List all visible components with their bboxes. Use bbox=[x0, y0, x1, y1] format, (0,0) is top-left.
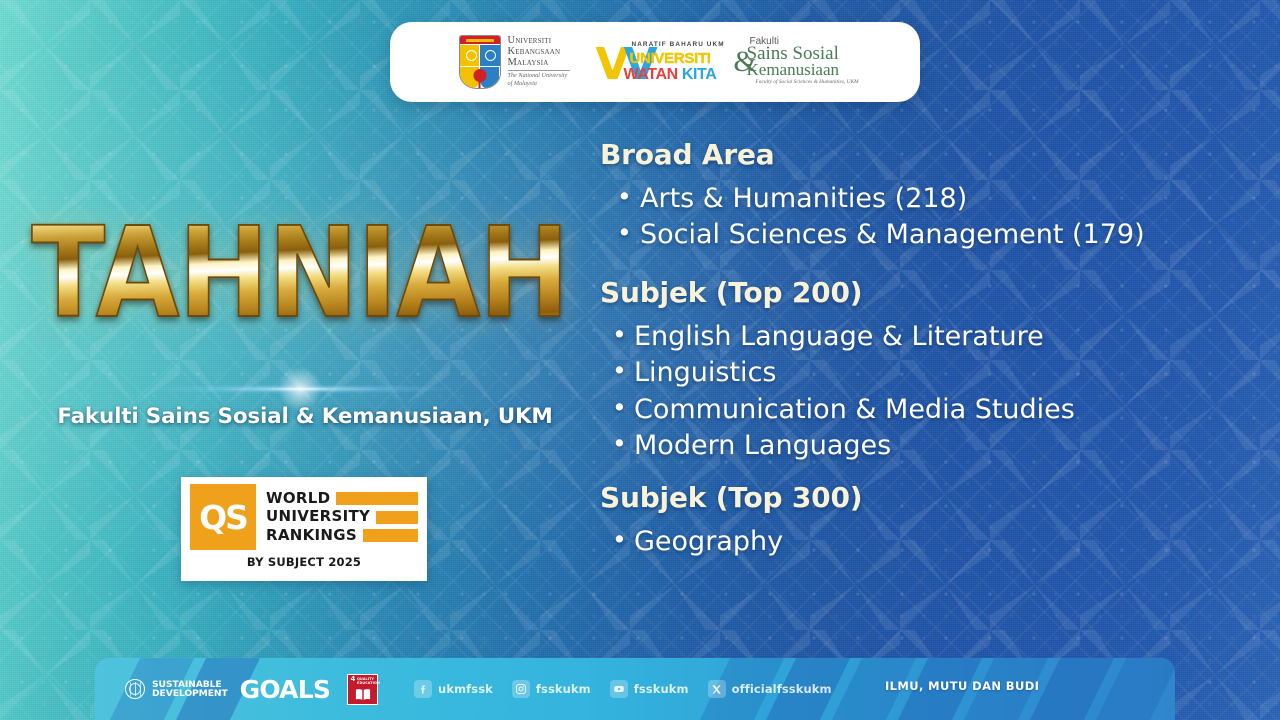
fssk-line2: Kemanusiaan bbox=[747, 61, 840, 78]
ukm-line3: Malaysia bbox=[508, 58, 570, 69]
ukm-crest-icon bbox=[459, 35, 501, 89]
ukm-line2: Kebangsaan bbox=[508, 47, 570, 58]
qs-badge-footer: BY SUBJECT 2025 bbox=[190, 555, 418, 569]
youtube-icon bbox=[610, 680, 628, 698]
youtube-handle: fsskukm bbox=[634, 682, 689, 696]
fssk-subtitle: Faculty of Social Sciences & Humanities,… bbox=[756, 79, 859, 85]
list-item: Modern Languages bbox=[600, 428, 1260, 464]
section-broad-area: Broad Area Arts & Humanities (218) Socia… bbox=[600, 138, 1260, 254]
list-item: Arts & Humanities (218) bbox=[600, 181, 1260, 217]
watan-kita-line2: WATAN KITA bbox=[624, 66, 717, 84]
social-link-youtube[interactable]: fsskukm bbox=[610, 680, 689, 698]
subjek-200-items: English Language & Literature Linguistic… bbox=[600, 319, 1260, 465]
rankings-list: Broad Area Arts & Humanities (218) Socia… bbox=[600, 138, 1260, 562]
institution-motto: ILMU, MUTU DAN BUDI bbox=[885, 679, 1039, 693]
social-link-instagram[interactable]: fsskukm bbox=[512, 680, 591, 698]
list-item: Linguistics bbox=[600, 355, 1260, 391]
hero-block: TAHNIAH Fakulti Sains Sosial & Kemanusia… bbox=[0, 212, 600, 316]
watan-kita-logo: VV NARATIF BAHARU UKM UNIVERSITI WATAN K… bbox=[596, 37, 708, 87]
instagram-handle: fsskukm bbox=[536, 682, 591, 696]
ukm-logo: Universiti Kebangsaan Malaysia The Natio… bbox=[459, 35, 570, 89]
open-book-icon bbox=[354, 688, 371, 701]
instagram-icon bbox=[512, 680, 530, 698]
watan-kita-line1: UNIVERSITI bbox=[630, 50, 711, 67]
watan-kita-kicker: NARATIF BAHARU UKM bbox=[632, 41, 725, 48]
qs-line1: WORLD bbox=[266, 490, 330, 507]
sdg-goal-4-tile: 4 QUALITY EDUCATION bbox=[347, 674, 378, 705]
x-twitter-icon bbox=[708, 680, 726, 698]
page-title: TAHNIAH bbox=[0, 212, 606, 335]
divider bbox=[508, 70, 570, 71]
poster-canvas: Universiti Kebangsaan Malaysia The Natio… bbox=[0, 0, 1280, 720]
footer-bar: SUSTAINABLE DEVELOPMENT GOALS 4 QUALITY … bbox=[95, 658, 1175, 720]
qs-mark-text: QS bbox=[199, 501, 247, 534]
qs-bar-3 bbox=[363, 529, 418, 542]
social-link-x[interactable]: officialfsskukm bbox=[708, 680, 832, 698]
un-emblem-icon bbox=[125, 679, 145, 699]
qs-line3: RANKINGS bbox=[266, 527, 357, 544]
qs-bar-1 bbox=[336, 492, 418, 505]
kita-word: KITA bbox=[682, 66, 717, 83]
social-links: ukmfssk fsskukm bbox=[414, 680, 832, 698]
social-link-facebook[interactable]: ukmfssk bbox=[414, 680, 493, 698]
facebook-handle: ukmfssk bbox=[438, 682, 493, 696]
section-title: Subjek (Top 200) bbox=[600, 276, 1260, 309]
qs-rankings-badge: QS WORLD UNIVERSITY RANKINGS BY SUBJECT … bbox=[181, 477, 427, 581]
subjek-300-items: Geography bbox=[600, 524, 1260, 560]
section-title: Broad Area bbox=[600, 138, 1260, 171]
sdg-logo: SUSTAINABLE DEVELOPMENT GOALS 4 QUALITY … bbox=[125, 674, 378, 705]
qs-line2: UNIVERSITY bbox=[266, 508, 370, 525]
sdg-goal-number: 4 bbox=[351, 676, 356, 683]
qs-bar-2 bbox=[376, 511, 418, 524]
list-item: Geography bbox=[600, 524, 1260, 560]
sdg-line2: DEVELOPMENT bbox=[152, 689, 228, 698]
broad-area-items: Arts & Humanities (218) Social Sciences … bbox=[600, 181, 1260, 254]
x-handle: officialfsskukm bbox=[732, 682, 832, 696]
section-subjek-top-200: Subjek (Top 200) English Language & Lite… bbox=[600, 276, 1260, 465]
watan-word: WATAN bbox=[624, 66, 678, 83]
list-item: Communication & Media Studies bbox=[600, 392, 1260, 428]
sdg-goal-label: QUALITY EDUCATION bbox=[357, 677, 380, 686]
qs-logo-mark: QS bbox=[190, 484, 256, 550]
hero-subtitle: Fakulti Sains Sosial & Kemanusiaan, UKM bbox=[0, 404, 610, 429]
list-item: Social Sciences & Management (179) bbox=[600, 217, 1260, 253]
ukm-sub2: of Malaysia bbox=[508, 80, 570, 88]
fssk-logo: & Fakulti Sains Sosial Kemanusiaan Facul… bbox=[734, 35, 852, 89]
sdg-goals-word: GOALS bbox=[240, 677, 330, 702]
section-title: Subjek (Top 300) bbox=[600, 481, 1260, 514]
light-flare bbox=[85, 382, 515, 396]
logo-bar: Universiti Kebangsaan Malaysia The Natio… bbox=[390, 22, 920, 102]
list-item: English Language & Literature bbox=[600, 319, 1260, 355]
facebook-icon bbox=[414, 680, 432, 698]
ukm-sub1: The National University bbox=[508, 72, 570, 80]
section-subjek-top-300: Subjek (Top 300) Geography bbox=[600, 481, 1260, 560]
